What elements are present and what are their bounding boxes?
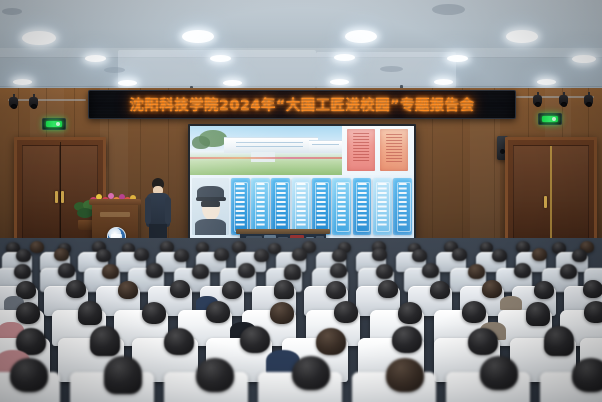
slide-campus-photo [190,126,342,175]
ceiling-light [572,55,596,63]
door-handle[interactable] [544,196,547,208]
slide-column [292,178,311,235]
stage-spotlight [559,95,568,106]
ceiling-conduit [516,96,594,98]
slide-column [373,178,392,235]
door-handle[interactable] [55,191,58,203]
ceiling-light [447,55,468,62]
ceiling-light [118,80,137,86]
banner-text: 沈阳科技学院2024年“大国工匠进校园”专题报告会 [130,94,475,115]
audience-seating [0,238,602,402]
stage-spotlight [533,95,542,106]
slide-column [231,178,250,235]
exit-sign-right [538,113,562,125]
slide-column [271,178,290,235]
door-panel [513,145,551,243]
slide-portrait [192,178,229,235]
slide-column [312,178,331,235]
door-right[interactable] [505,137,597,251]
slide-column [332,178,351,235]
projection-screen [188,124,416,240]
ceiling-light [334,54,355,61]
ceiling [0,0,602,88]
lectern-nameplate [100,212,130,217]
presenter [145,178,171,240]
exit-icon [46,121,62,127]
ceiling-light [223,80,242,86]
ceiling-light [85,55,106,62]
door-handle[interactable] [61,191,64,203]
ceiling-conduit [8,99,86,101]
stage-spotlight [9,97,18,108]
exit-icon [542,116,558,122]
slide-content [190,126,414,238]
slide-red-panels [342,126,414,175]
ceiling-light [506,30,538,43]
led-banner: 沈阳科技学院2024年“大国工匠进校园”专题报告会 [88,90,516,119]
stage-spotlight [584,95,593,106]
auditorium-photo: 沈阳科技学院2024年“大国工匠进校园”专题报告会 [0,0,602,402]
ceiling-light [22,31,56,45]
ceiling-light [434,79,453,85]
door-panel [551,145,589,243]
ceiling-light [537,79,556,85]
slide-column [353,178,372,235]
ceiling-light [210,55,231,62]
ceiling-light [13,79,32,85]
slide-column [251,178,270,235]
ceiling-light [330,79,349,85]
ceiling-light [345,30,377,43]
ceiling-light [182,30,214,43]
stage-spotlight [29,97,38,108]
exit-sign-left [42,118,66,130]
slide-column [393,178,412,235]
